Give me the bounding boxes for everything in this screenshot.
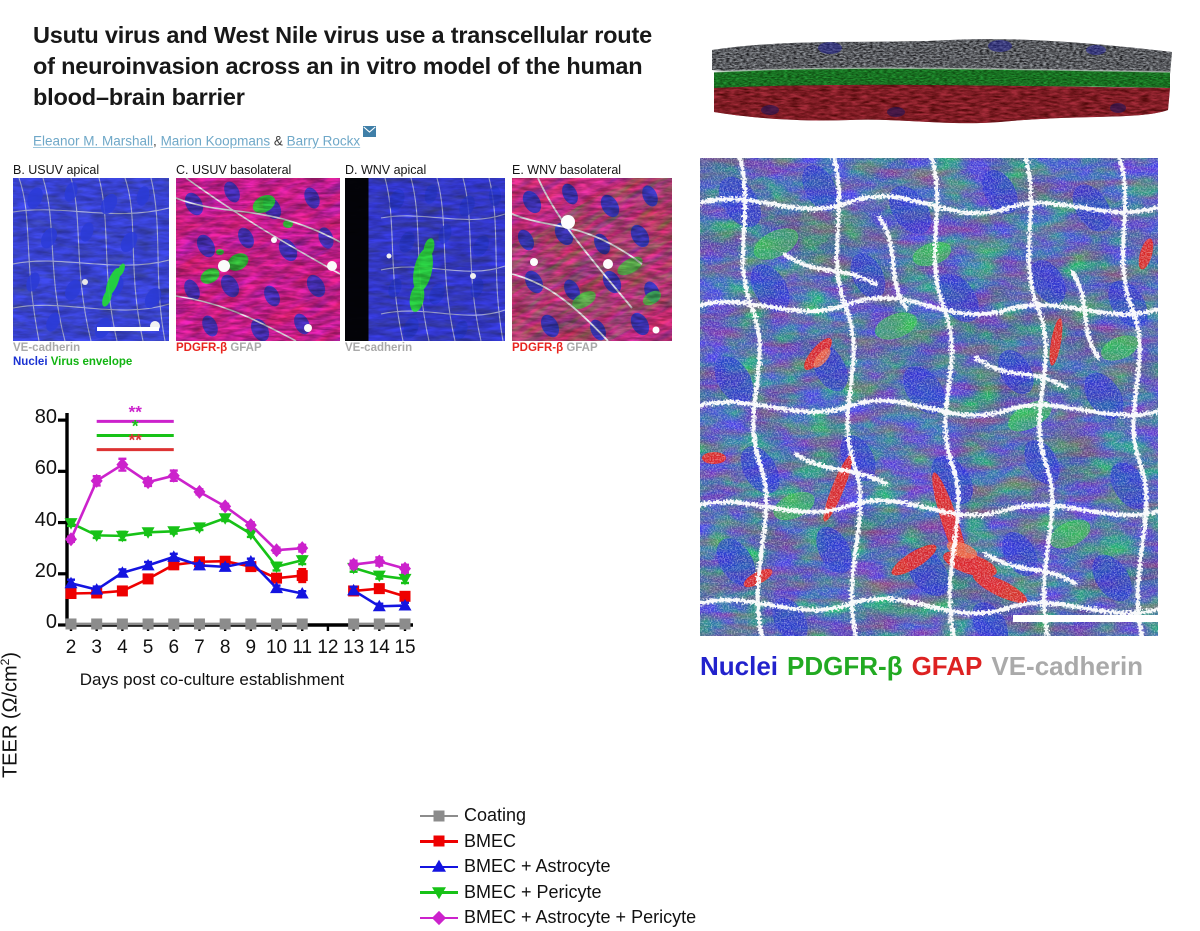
micrograph-panel-row: B. USUV apical: [0, 163, 690, 378]
legend-marker-icon: [418, 806, 460, 826]
legend-item[interactable]: BMEC + Pericyte: [418, 880, 696, 906]
panel-b-legend-1-0: Nuclei: [13, 356, 48, 368]
legend-item[interactable]: BMEC + Astrocyte + Pericyte: [418, 905, 696, 931]
legend-item[interactable]: Coating: [418, 803, 696, 829]
scale-bar: [1013, 615, 1158, 622]
x-tick-label: 4: [109, 637, 135, 659]
x-tick-label: 7: [186, 637, 212, 659]
channel-legend-item: Nuclei: [700, 651, 778, 681]
panel-d-legend-0-0: VE-cadherin: [345, 342, 412, 354]
legend-marker-icon: [418, 857, 460, 877]
legend-label: BMEC + Pericyte: [460, 882, 602, 903]
micrograph-panel-e: E. WNV basolateral: [512, 163, 672, 356]
chart-series: [65, 458, 411, 576]
x-tick-label: 5: [135, 637, 161, 659]
significance-annotation: **: [97, 431, 174, 450]
micrograph-panel-c: C. USUV basolateral: [176, 163, 340, 356]
chart-series: [65, 550, 412, 611]
channel-legend: NucleiPDGFR-βGFAPVE-cadherin: [700, 651, 1152, 682]
page-title: Usutu virus and West Nile virus use a tr…: [33, 20, 663, 113]
panel-e-caption: E. WNV basolateral: [512, 163, 672, 178]
panel-d-image: [345, 178, 505, 341]
x-tick-label: 9: [238, 637, 264, 659]
panel-d-legend: VE-cadherin: [345, 342, 505, 356]
legend-label: BMEC + Astrocyte: [460, 856, 611, 877]
x-tick-label: 14: [366, 637, 392, 659]
legend-marker-icon: [418, 831, 460, 851]
panel-e-image: [512, 178, 672, 341]
x-tick-label: 15: [392, 637, 418, 659]
chart-legend: CoatingBMECBMEC + AstrocyteBMEC + Pericy…: [418, 803, 696, 931]
panel-c-legend: PDGFR-β GFAP: [176, 342, 340, 356]
panel-e-legend-0-1: GFAP: [566, 342, 597, 354]
z-stack-cross-section-render: [700, 14, 1185, 142]
author-link-2[interactable]: Marion Koopmans: [161, 134, 271, 149]
micrograph-panel-b: B. USUV apical: [13, 163, 169, 369]
channel-legend-item: PDGFR-β: [787, 651, 903, 681]
teer-line-chart: TEER (Ω/cm2) 020406080 ***** 23456789101…: [0, 385, 690, 685]
x-tick-label: 2: [58, 637, 84, 659]
channel-legend-item: VE-cadherin: [991, 651, 1143, 681]
legend-label: BMEC: [460, 831, 516, 852]
author-sep-1: ,: [153, 134, 161, 149]
panel-c-legend-0-1: GFAP: [230, 342, 261, 354]
panel-c-legend-0-0: PDGFR-β: [176, 342, 227, 354]
legend-marker-icon: [418, 882, 460, 902]
legend-label: Coating: [460, 805, 526, 826]
chart-series: [66, 618, 411, 629]
panel-c-image: [176, 178, 340, 341]
author-link-3[interactable]: Barry Rockx: [287, 134, 361, 149]
panel-e-legend: PDGFR-β GFAP: [512, 342, 672, 356]
panel-c-caption: C. USUV basolateral: [176, 163, 340, 178]
micrograph-panel-d: D. WNV apical: [345, 163, 505, 356]
legend-label: BMEC + Astrocyte + Pericyte: [460, 907, 696, 928]
confocal-bbb-monolayer-image: [700, 158, 1158, 636]
panel-b-legend-1-1: Virus envelope: [51, 356, 133, 368]
legend-item[interactable]: BMEC: [418, 829, 696, 855]
legend-marker-icon: [418, 908, 460, 928]
author-sep-2: &: [270, 134, 287, 149]
panel-e-legend-0-0: PDGFR-β: [512, 342, 563, 354]
x-tick-label: 6: [161, 637, 187, 659]
chart-series: [65, 513, 412, 585]
svg-text:**: **: [129, 431, 143, 450]
channel-legend-item: GFAP: [912, 651, 983, 681]
x-tick-label: 3: [84, 637, 110, 659]
chart-x-axis-label: Days post co-culture establishment: [12, 670, 412, 690]
panel-b-legend: VE-cadherin Nuclei Virus envelope: [13, 342, 169, 369]
panel-b-scale-bar: [97, 327, 159, 331]
panel-b-legend-0-0: VE-cadherin: [13, 342, 80, 354]
x-tick-label: 13: [341, 637, 367, 659]
envelope-icon[interactable]: [363, 125, 376, 140]
x-tick-label: 11: [289, 637, 315, 659]
panel-b-image: [13, 178, 169, 341]
x-tick-label: 12: [315, 637, 341, 659]
panel-b-caption: B. USUV apical: [13, 163, 169, 178]
author-line: Eleanor M. Marshall, Marion Koopmans & B…: [33, 128, 376, 149]
panel-d-caption: D. WNV apical: [345, 163, 505, 178]
x-tick-label: 8: [212, 637, 238, 659]
legend-item[interactable]: BMEC + Astrocyte: [418, 854, 696, 880]
x-tick-label: 10: [264, 637, 290, 659]
author-link-1[interactable]: Eleanor M. Marshall: [33, 134, 153, 149]
